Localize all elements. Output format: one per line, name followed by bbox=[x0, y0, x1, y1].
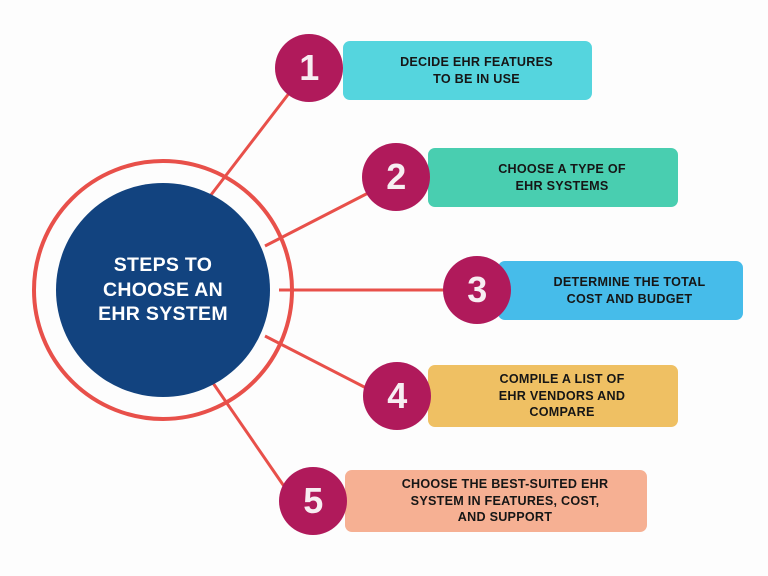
step-bar-5: CHOOSE THE BEST-SUITED EHR SYSTEM IN FEA… bbox=[345, 470, 647, 532]
step-label-3: DETERMINE THE TOTAL COST AND BUDGET bbox=[524, 274, 735, 307]
step-number-5: 5 bbox=[303, 483, 323, 519]
step-badge-5[interactable]: 5 bbox=[279, 467, 347, 535]
step-label-5: CHOOSE THE BEST-SUITED EHR SYSTEM IN FEA… bbox=[371, 476, 639, 526]
step-number-4: 4 bbox=[387, 378, 407, 414]
step-label-2: CHOOSE A TYPE OF EHR SYSTEMS bbox=[454, 161, 670, 194]
step-badge-2[interactable]: 2 bbox=[362, 143, 430, 211]
step-number-1: 1 bbox=[299, 50, 319, 86]
step-label-4: COMPILE A LIST OF EHR VENDORS AND COMPAR… bbox=[454, 371, 670, 421]
step-badge-1[interactable]: 1 bbox=[275, 34, 343, 102]
step-bar-3: DETERMINE THE TOTAL COST AND BUDGET bbox=[498, 261, 743, 320]
step-badge-4[interactable]: 4 bbox=[363, 362, 431, 430]
hub-center-circle: STEPS TO CHOOSE AN EHR SYSTEM bbox=[56, 183, 270, 397]
step-bar-2: CHOOSE A TYPE OF EHR SYSTEMS bbox=[428, 148, 678, 207]
infographic-canvas: STEPS TO CHOOSE AN EHR SYSTEM DECIDE EHR… bbox=[0, 0, 768, 576]
step-number-2: 2 bbox=[386, 159, 406, 195]
step-label-1: DECIDE EHR FEATURES TO BE IN USE bbox=[369, 54, 584, 87]
step-bar-1: DECIDE EHR FEATURES TO BE IN USE bbox=[343, 41, 592, 100]
step-number-3: 3 bbox=[467, 272, 487, 308]
hub-title: STEPS TO CHOOSE AN EHR SYSTEM bbox=[84, 253, 242, 328]
step-bar-4: COMPILE A LIST OF EHR VENDORS AND COMPAR… bbox=[428, 365, 678, 427]
step-badge-3[interactable]: 3 bbox=[443, 256, 511, 324]
